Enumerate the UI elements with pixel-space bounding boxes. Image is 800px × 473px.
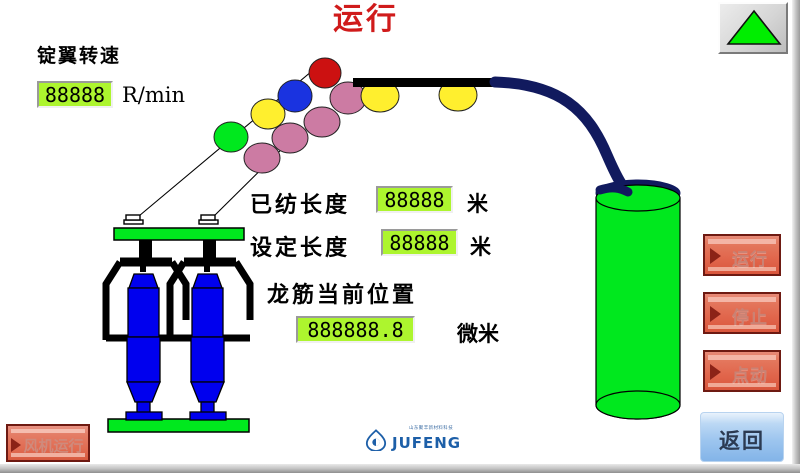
- roller-red: [309, 58, 341, 88]
- spun-length-label: 已纺长度: [250, 187, 350, 219]
- run-button[interactable]: 运行: [703, 234, 781, 276]
- jog-button[interactable]: 点动: [703, 350, 781, 392]
- spindle-cap-left: [124, 215, 143, 224]
- roller-pink-1: [244, 143, 280, 173]
- set-length-unit: 米: [470, 231, 491, 261]
- back-button-label: 返回: [701, 425, 783, 455]
- position-label: 龙筋当前位置: [267, 277, 417, 309]
- brand-name: JUFENG: [392, 434, 461, 452]
- brand-sub-text: 山东聚丰新材料科技: [409, 425, 453, 431]
- spindle-cap-right: [199, 215, 218, 224]
- thread-curve: [495, 82, 626, 190]
- button-highlight: [11, 429, 85, 433]
- page-title: 运行: [333, 3, 399, 37]
- bottom-edge-strip: [0, 464, 800, 473]
- bobbin-right: [190, 274, 226, 420]
- play-arrow-icon: [710, 364, 721, 380]
- speed-value[interactable]: 88888: [37, 81, 113, 108]
- roller-green: [214, 122, 248, 152]
- run-button-label: 运行: [723, 245, 777, 270]
- set-length-value[interactable]: 88888: [381, 229, 458, 256]
- play-arrow-icon: [710, 248, 721, 264]
- roller-pink-2: [272, 123, 308, 153]
- spun-length-value[interactable]: 88888: [376, 186, 453, 213]
- top-guide-bar: [353, 78, 500, 87]
- right-edge-strip: [792, 0, 800, 473]
- fan-run-button[interactable]: 风机运行: [6, 424, 90, 462]
- bobbin-left: [126, 274, 162, 420]
- roller-pink-3: [304, 107, 340, 137]
- spun-length-unit: 米: [467, 188, 488, 218]
- play-arrow-icon: [710, 306, 721, 322]
- speed-label: 锭翼转速: [37, 41, 121, 68]
- thread-entering-can: [600, 188, 628, 192]
- triangle-button[interactable]: [718, 2, 788, 54]
- can-body: [596, 198, 680, 419]
- position-value[interactable]: 888888.8: [296, 316, 415, 343]
- brand-logo: 山东聚丰新材料科技 JUFENG: [365, 424, 465, 458]
- jufeng-swirl-icon: [365, 429, 387, 451]
- upper-platform: [114, 228, 244, 240]
- set-length-label: 设定长度: [250, 230, 350, 262]
- lower-platform: [108, 419, 249, 432]
- roller-blue: [278, 80, 312, 112]
- roller-group: [214, 58, 477, 173]
- button-highlight: [708, 239, 776, 244]
- jog-button-label: 点动: [723, 361, 777, 386]
- stop-button-label: 停止: [723, 303, 777, 328]
- position-unit: 微米: [457, 318, 499, 348]
- can-bottom: [596, 391, 680, 419]
- stop-button[interactable]: 停止: [703, 292, 781, 334]
- button-highlight: [708, 297, 776, 302]
- speed-unit: R/min: [122, 83, 185, 107]
- button-highlight: [708, 355, 776, 360]
- back-button[interactable]: 返回: [700, 412, 784, 462]
- hmi-screen: 运行 锭翼转速 88888 R/min 已纺长度 88888 米 设定长度 88…: [0, 0, 800, 473]
- fan-run-button-label: 风机运行: [20, 435, 87, 456]
- green-triangle-icon: [726, 9, 782, 47]
